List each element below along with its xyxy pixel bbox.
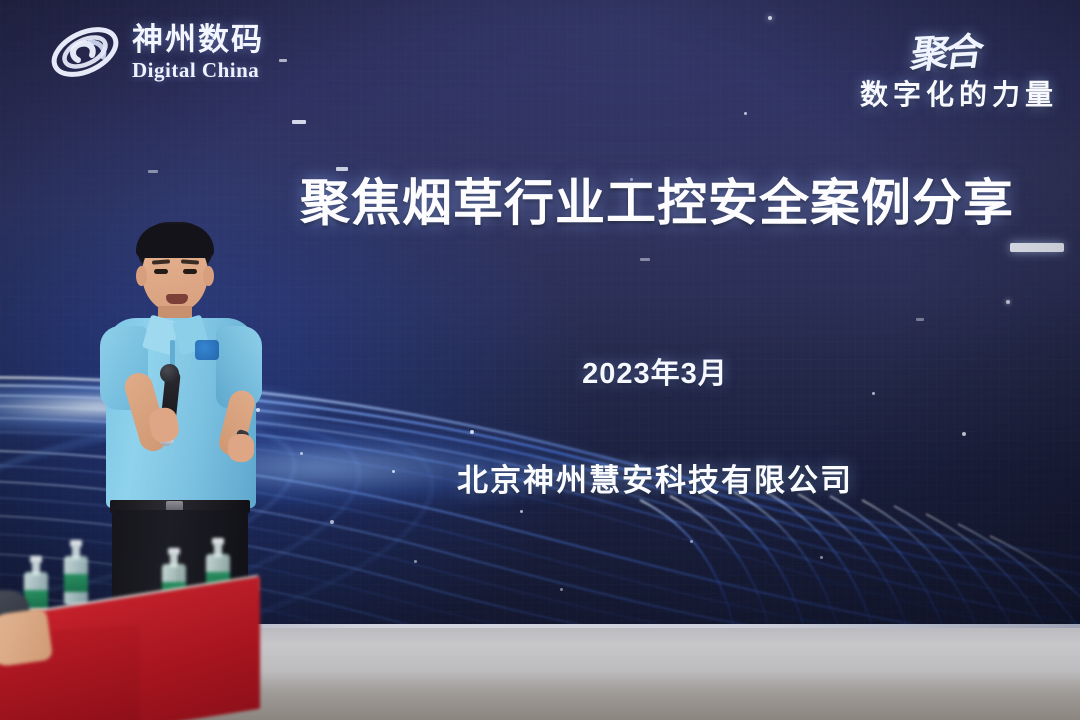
speaker-ear-left [136, 266, 147, 286]
event-slogan: 聚合 数字化的力量 [860, 22, 1058, 113]
speaker-hand-right [228, 434, 254, 462]
speaker-eye-left [154, 269, 168, 274]
brand-wordmark: 神州数码 Digital China [132, 24, 264, 81]
brand-name-en: Digital China [132, 60, 264, 81]
slogan-brush-text: 聚合 [908, 20, 984, 78]
brand-name-cn: 神州数码 [132, 24, 264, 55]
speaker-eye-right [183, 269, 197, 274]
water-bottle [64, 540, 88, 606]
slide-title: 聚焦烟草行业工控安全案例分享 [300, 178, 1010, 228]
slide-company-name: 北京神州慧安科技有限公司 [300, 455, 1010, 500]
digital-china-logo: 神州数码 Digital China [48, 22, 264, 82]
speaker-hair-top [136, 224, 214, 258]
speaker-chest-logo [195, 340, 219, 360]
speaker-mouth [166, 294, 188, 304]
conference-stage-photo: 神州数码 Digital China 聚合 数字化的力量 聚焦烟草行业工控安全案… [0, 0, 1080, 720]
digital-china-swoosh-icon [48, 22, 122, 82]
slogan-subtitle: 数字化的力量 [860, 73, 1058, 113]
speaker-ear-right [203, 266, 214, 286]
seated-guest-arm [0, 608, 53, 668]
slide-date: 2023年3月 [300, 350, 1010, 392]
